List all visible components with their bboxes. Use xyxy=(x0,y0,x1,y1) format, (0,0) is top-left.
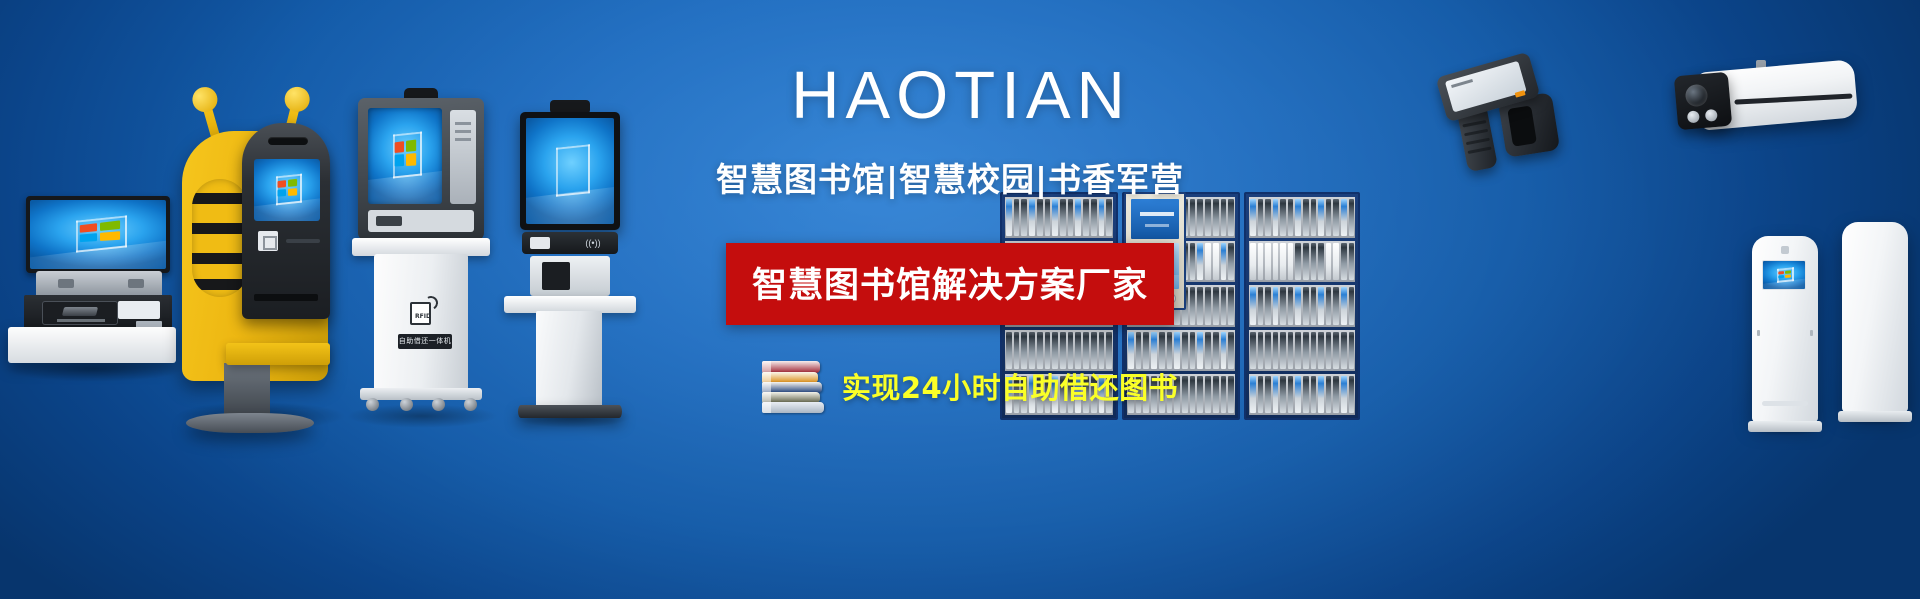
locker-slot xyxy=(1318,287,1324,324)
locker-slot xyxy=(1341,376,1347,413)
rfid-icon: RFID xyxy=(408,296,438,326)
security-gate-pillar-right xyxy=(1842,222,1908,422)
brand-title: HAOTIAN xyxy=(600,62,1300,129)
locker-slot xyxy=(1333,199,1339,236)
terminal-base xyxy=(8,327,176,363)
handheld-rfid-scanner xyxy=(1440,52,1570,174)
terminal-label xyxy=(118,301,160,319)
bee-card-reader xyxy=(258,231,278,251)
locker-slot xyxy=(1311,243,1317,280)
kiosk-screen xyxy=(368,108,442,204)
windows-logo-icon xyxy=(79,221,119,243)
gate-led xyxy=(1757,330,1760,336)
terminal-neck xyxy=(36,271,162,297)
kiosk-caster xyxy=(432,398,445,411)
gate-screen xyxy=(1762,260,1806,290)
locker-slot xyxy=(1303,243,1309,280)
rfid-card-icon: RFID xyxy=(410,302,431,325)
gate-base xyxy=(1748,421,1822,432)
locker-slot xyxy=(1333,332,1339,369)
camera-ir-led xyxy=(1705,109,1718,122)
locker-slot xyxy=(1349,376,1355,413)
desktop-self-service-terminal xyxy=(8,196,176,366)
kiosk-nameplate: 自助借还一体机 xyxy=(398,334,452,349)
face-kiosk-body xyxy=(536,311,602,409)
bullet-security-camera xyxy=(1664,58,1860,144)
kiosk-reader-bar xyxy=(368,210,474,232)
bee-scanner-line xyxy=(286,239,320,243)
camera-ir-led xyxy=(1687,110,1700,123)
locker-slot xyxy=(1303,332,1309,369)
locker-slot xyxy=(1311,376,1317,413)
rfid-self-service-kiosk: RFID 自助借还一体机 xyxy=(352,88,490,418)
kiosk-caster xyxy=(400,398,413,411)
gate-pillar-body xyxy=(1842,222,1908,412)
locker-slot xyxy=(1318,243,1324,280)
locker-slot xyxy=(1326,243,1332,280)
kiosk-caster xyxy=(366,398,379,411)
bee-tray xyxy=(226,343,330,365)
locker-slot xyxy=(1311,332,1317,369)
locker-slot xyxy=(1349,287,1355,324)
locker-slot xyxy=(1341,243,1347,280)
locker-slot xyxy=(1303,287,1309,324)
banner-tagline: 智慧图书馆|智慧校园|书香军营 xyxy=(600,153,1300,201)
bee-top-slot xyxy=(268,137,308,145)
locker-slot xyxy=(1349,199,1355,236)
locker-slot xyxy=(1341,199,1347,236)
bee-base xyxy=(186,413,314,433)
feature-row: 实现24小时自助借还图书 xyxy=(600,359,1300,413)
scanner-trigger-icon xyxy=(1515,90,1526,98)
locker-slot xyxy=(1318,332,1324,369)
terminal-screen-bezel xyxy=(26,196,170,273)
kiosk-head-panel xyxy=(358,98,484,240)
locker-slot xyxy=(1341,287,1347,324)
locker-slot xyxy=(1349,332,1355,369)
camera-front-plate xyxy=(1674,72,1733,131)
windows-logo-icon xyxy=(278,179,297,197)
locker-slot xyxy=(1303,376,1309,413)
bee-screen xyxy=(254,159,320,221)
locker-slot xyxy=(1326,287,1332,324)
locker-slot xyxy=(1349,243,1355,280)
bee-stripes xyxy=(192,179,248,297)
locker-slot xyxy=(1333,376,1339,413)
locker-slot xyxy=(1303,199,1309,236)
locker-slot xyxy=(1326,376,1332,413)
face-kiosk-lower-panel xyxy=(530,256,610,296)
terminal-screen xyxy=(30,200,166,269)
highlight-box: 智慧图书馆解决方案厂家 xyxy=(726,243,1174,325)
promo-banner: RFID 自助借还一体机 ((•)) HAOTIAN 智慧图书馆|智慧校园|书香… xyxy=(0,0,1920,599)
locker-slot xyxy=(1326,199,1332,236)
windows-logo-icon xyxy=(1778,270,1790,278)
terminal-rfid-pad xyxy=(42,301,118,325)
stacked-books-icon xyxy=(762,359,828,413)
banner-text-block: HAOTIAN 智慧图书馆|智慧校园|书香军营 智慧图书馆解决方案厂家 实现24… xyxy=(600,62,1300,413)
terminal-deck xyxy=(24,295,172,331)
kiosk-caster xyxy=(464,398,477,411)
locker-slot xyxy=(1311,199,1317,236)
gate-strip xyxy=(1762,401,1808,406)
kiosk-foot xyxy=(360,388,482,400)
gate-base xyxy=(1838,411,1912,422)
bee-robot-kiosk xyxy=(178,95,328,395)
locker-slot xyxy=(1311,287,1317,324)
locker-slot xyxy=(1318,199,1324,236)
gate-led xyxy=(1810,330,1813,336)
bee-leg xyxy=(224,363,270,419)
gate-pillar-body xyxy=(1752,236,1818,422)
gate-sensor-icon xyxy=(1781,246,1789,254)
locker-slot xyxy=(1333,243,1339,280)
locker-slot xyxy=(1326,332,1332,369)
camera-lens-icon xyxy=(1685,84,1709,108)
kiosk-side-module xyxy=(450,110,476,204)
kiosk-column: RFID 自助借还一体机 xyxy=(374,254,468,394)
feature-text: 实现24小时自助借还图书 xyxy=(842,365,1178,407)
locker-slot xyxy=(1333,287,1339,324)
security-gate-pillar-left xyxy=(1752,236,1818,432)
windows-logo-icon xyxy=(395,139,417,166)
locker-slot xyxy=(1318,376,1324,413)
card-reader-icon xyxy=(530,237,550,249)
locker-slot xyxy=(1341,332,1347,369)
bee-book-slot xyxy=(254,294,318,301)
bee-head-panel xyxy=(242,123,330,319)
